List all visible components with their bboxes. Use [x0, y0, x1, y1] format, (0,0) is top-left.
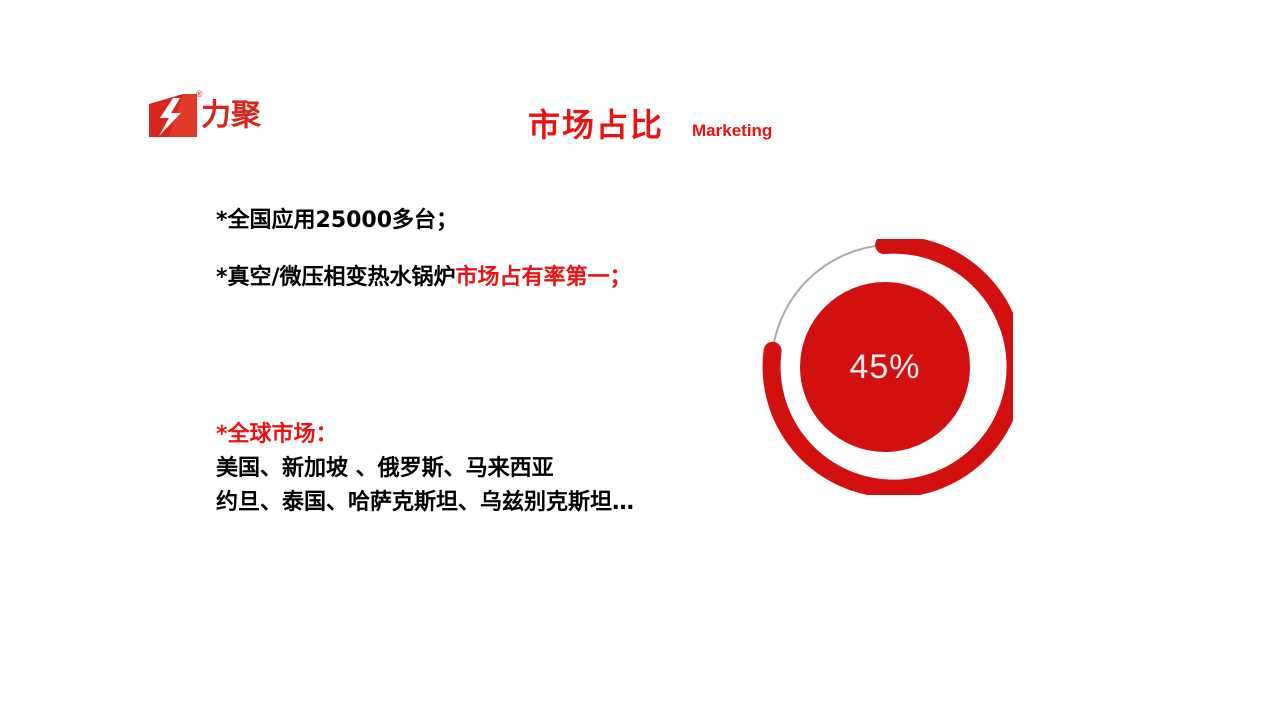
registered-trademark-icon: ®	[196, 90, 203, 99]
page-title-block: 市场占比 Marketing	[528, 108, 772, 143]
bullet-text-black: *全国应用25000多台；	[216, 208, 458, 233]
bullet-list-global-markets: *全球市场： 美国、新加坡 、俄罗斯、马来西亚 约旦、泰国、哈萨克斯坦、乌兹别克…	[216, 418, 776, 520]
bullet-item-market-share-rank: *真空/微压相变热水锅炉市场占有率第一；	[192, 262, 686, 293]
bullet-text-red: 市场占有率第一；	[456, 265, 632, 290]
global-market-heading: *全球市场：	[216, 418, 776, 452]
page-subtitle: Marketing	[692, 122, 772, 141]
page-title: 市场占比	[528, 108, 664, 143]
lightning-bolt-mark-icon: ®	[147, 92, 199, 142]
global-market-countries-line-1: 美国、新加坡 、俄罗斯、马来西亚	[216, 452, 776, 486]
global-market-countries-line-2: 约旦、泰国、哈萨克斯坦、乌兹别克斯坦…	[216, 486, 776, 520]
donut-inner-disc	[800, 282, 970, 452]
bullet-item-nationwide-units: *全国应用25000多台；	[216, 205, 686, 236]
market-share-donut-chart: 45%	[757, 239, 1013, 495]
slide-canvas: ® 力聚 市场占比 Marketing *全国应用25000多台； *真空/微压…	[0, 0, 1280, 720]
bullet-list-top: *全国应用25000多台； *真空/微压相变热水锅炉市场占有率第一；	[216, 205, 686, 293]
logo-wordmark: 力聚	[201, 101, 261, 131]
bullet-text-black: *真空/微压相变热水锅炉	[216, 265, 456, 290]
company-logo: ® 力聚	[147, 92, 267, 148]
